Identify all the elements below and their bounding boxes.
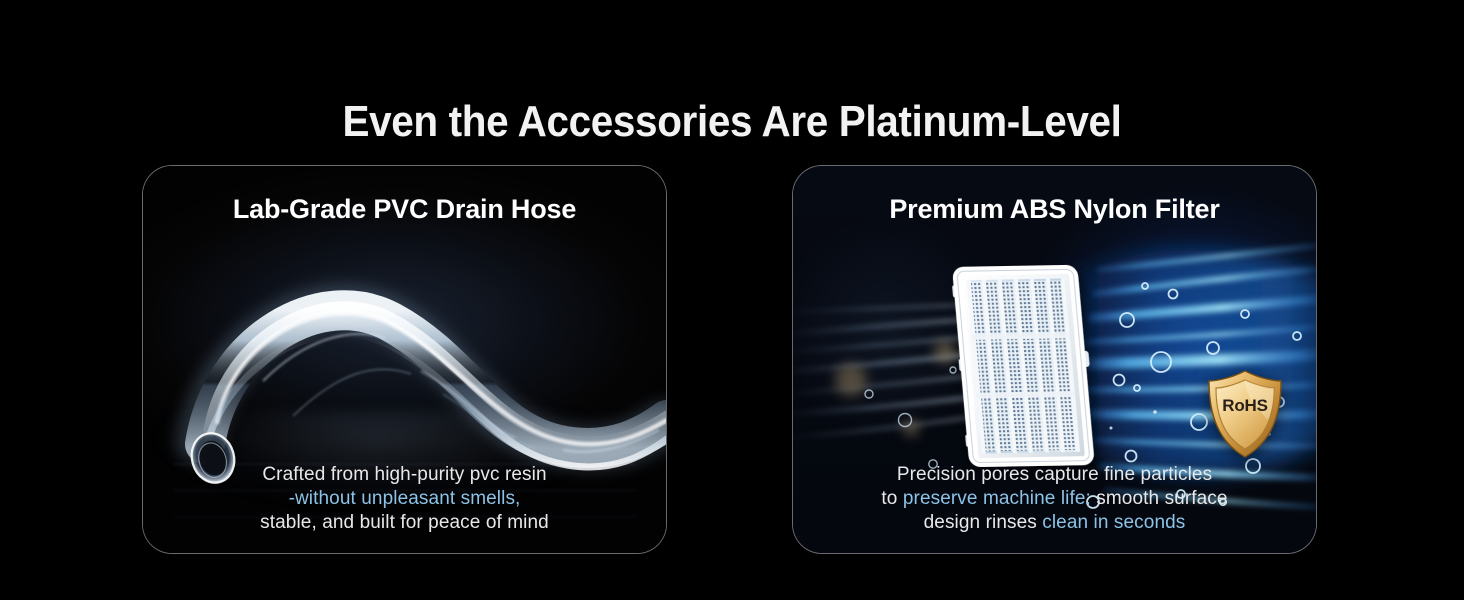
caption-span: smooth surface (1091, 488, 1228, 509)
promo-banner: Even the Accessories Are Platinum-Level (0, 0, 1464, 600)
caption-span: stable, and built for peace of mind (260, 512, 549, 533)
page-title: Even the Accessories Are Platinum-Level (59, 96, 1406, 148)
caption-line: design rinses clean in seconds (793, 511, 1316, 535)
card-caption-abs-nylon-filter: Precision pores capture fine particles t… (793, 463, 1316, 535)
caption-span: design rinses (924, 512, 1043, 533)
caption-span: Precision pores capture fine particles (897, 464, 1212, 485)
rohs-badge-label: RoHS (1205, 396, 1285, 416)
caption-line: -without unpleasant smells, (143, 487, 666, 511)
caption-span: to (881, 488, 902, 509)
caption-span-accent: preserve machine life; (903, 488, 1091, 509)
card-abs-nylon-filter: RoHS Premium ABS Nylon Filter Precision … (792, 165, 1317, 554)
card-heading-pvc-drain-hose: Lab-Grade PVC Drain Hose (143, 192, 666, 226)
card-pvc-drain-hose: Length:1.5 m Lab-Grade PVC Drain Hose Cr… (142, 165, 667, 554)
caption-span-accent: -without unpleasant smells, (289, 488, 521, 509)
caption-span: Crafted from high-purity pvc resin (262, 464, 546, 485)
caption-span-accent: clean in seconds (1042, 512, 1185, 533)
caption-line: Crafted from high-purity pvc resin (143, 463, 666, 487)
card-heading-abs-nylon-filter: Premium ABS Nylon Filter (793, 192, 1316, 226)
caption-line: Precision pores capture fine particles (793, 463, 1316, 487)
card-caption-pvc-drain-hose: Crafted from high-purity pvc resin -with… (143, 463, 666, 535)
caption-line: to preserve machine life; smooth surface (793, 487, 1316, 511)
caption-line: stable, and built for peace of mind (143, 511, 666, 535)
